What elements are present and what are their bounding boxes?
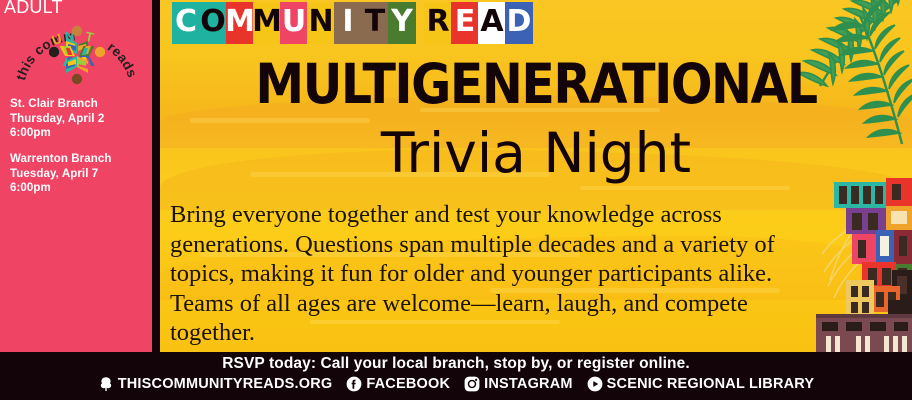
facebook-link[interactable]: FACEBOOK — [346, 376, 450, 392]
rsvp-text: RSVP today: Call your local branch, stop… — [0, 355, 912, 373]
social-label: THISCOMMUNITYREADS.ORG — [118, 376, 333, 392]
ransom-letter: A — [478, 2, 506, 44]
website-link[interactable]: THISCOMMUNITYREADS.ORG — [98, 376, 333, 392]
branch-time: 6:00pm — [10, 181, 112, 196]
ransom-letter: N — [307, 2, 335, 44]
instagram-icon — [464, 376, 480, 392]
instagram-link[interactable]: INSTAGRAM — [464, 376, 573, 392]
ransom-letter: E — [451, 2, 479, 44]
ransom-letter: O — [199, 2, 227, 44]
social-label: INSTAGRAM — [484, 376, 573, 392]
social-label: SCENIC REGIONAL LIBRARY — [607, 376, 815, 392]
ransom-letter: R — [424, 2, 452, 44]
ransom-letter: U — [280, 2, 308, 44]
facebook-icon — [346, 376, 362, 392]
texture-streak — [190, 118, 370, 123]
event-description: Bring everyone together and test your kn… — [170, 200, 810, 348]
branch-time: 6:00pm — [10, 126, 104, 141]
poster-main-area: COMMUNITY READ MULTIGENERATIONAL Trivia … — [160, 0, 912, 352]
this-community-reads-logo: this comm U N I T Y reads — [16, 14, 138, 94]
branch-event-0: St. Clair Branch Thursday, April 2 6:00p… — [10, 97, 104, 141]
texture-streak — [580, 186, 790, 190]
poster-footer: RSVP today: Call your local branch, stop… — [0, 352, 912, 400]
branch-event-1: Warrenton Branch Tuesday, April 7 6:00pm — [10, 152, 112, 196]
event-poster: ADULT this comm U N I T Y reads — [0, 0, 912, 400]
branch-name: Warrenton Branch — [10, 152, 112, 167]
ransom-letter: C — [172, 2, 200, 44]
left-info-panel: ADULT this comm U N I T Y reads — [0, 0, 152, 352]
ransom-letter: D — [505, 2, 533, 44]
branch-name: St. Clair Branch — [10, 97, 104, 112]
ransom-letter: I — [334, 2, 362, 44]
colorful-buildings-illustration — [816, 174, 912, 352]
branch-date: Thursday, April 2 — [10, 112, 104, 127]
social-label: FACEBOOK — [366, 376, 450, 392]
ransom-letter: Y — [388, 2, 416, 44]
tree-icon — [98, 376, 114, 392]
community-read-title: COMMUNITY READ — [172, 2, 532, 44]
ransom-letter: M — [226, 2, 254, 44]
youtube-link[interactable]: SCENIC REGIONAL LIBRARY — [587, 376, 815, 392]
social-links-row: THISCOMMUNITYREADS.ORG FACEBOOK INSTAGRA… — [0, 376, 912, 392]
logo-books-graphic — [49, 25, 105, 87]
youtube-icon — [587, 376, 603, 392]
ransom-letter: T — [361, 2, 389, 44]
headline-primary: MULTIGENERATIONAL — [160, 56, 912, 114]
headline-secondary: Trivia Night — [160, 124, 912, 182]
panel-divider — [152, 0, 160, 352]
ransom-letter: M — [253, 2, 281, 44]
branch-date: Tuesday, April 7 — [10, 167, 112, 182]
